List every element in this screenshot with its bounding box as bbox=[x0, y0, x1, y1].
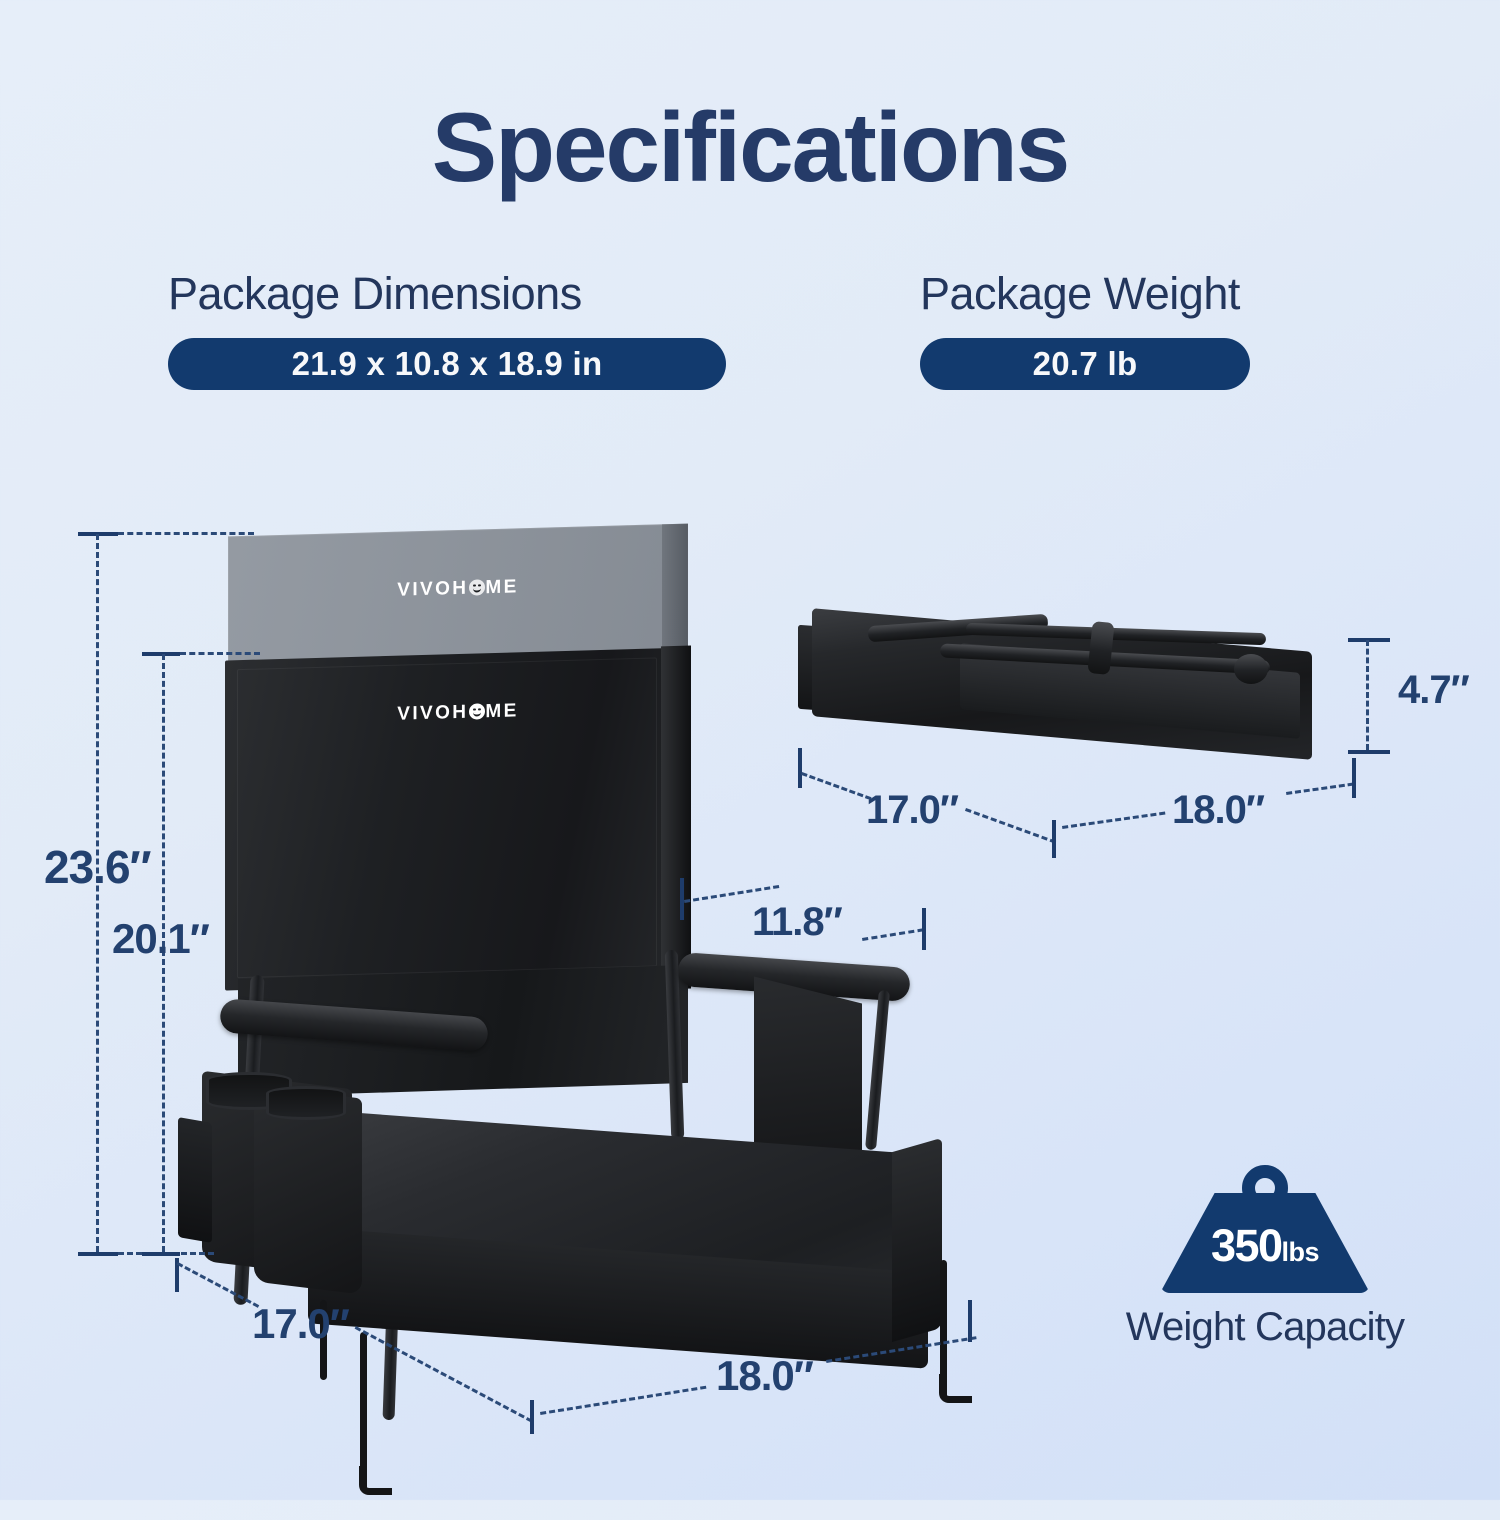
dim-cap-17-bottom bbox=[530, 1400, 534, 1434]
weight-icon: 350lbs bbox=[1160, 1165, 1370, 1293]
armrest-support-strut-right bbox=[865, 990, 890, 1150]
spec-package-weight: Package Weight 20.7 lb bbox=[920, 268, 1310, 390]
dim-cap-20-bottom bbox=[142, 1252, 180, 1256]
backrest-extended-ghost: VIVOHME bbox=[228, 524, 688, 669]
dim-cap-folded-17-left bbox=[798, 748, 802, 788]
dim-folded-height-label: 4.7″ bbox=[1398, 668, 1469, 713]
leg-hook-front-left bbox=[360, 1332, 367, 1492]
dim-folded-width-label: 18.0″ bbox=[1172, 788, 1264, 833]
dim-line-folded-18-a bbox=[1062, 812, 1165, 829]
brand-logo: VIVOHME bbox=[225, 695, 691, 730]
dim-line-folded-height bbox=[1366, 640, 1369, 750]
seat-cushion-side bbox=[892, 1138, 942, 1342]
package-dimensions-value-badge: 21.9 x 10.8 x 18.9 in bbox=[168, 338, 726, 390]
dim-cap-23-bottom bbox=[78, 1252, 118, 1256]
weight-capacity-label: Weight Capacity bbox=[1100, 1305, 1430, 1350]
dim-armrest-label: 11.8″ bbox=[752, 900, 842, 945]
dim-cap-20-top bbox=[142, 652, 180, 656]
dim-leader-23-top bbox=[118, 532, 254, 535]
backrest-panel: VIVOHME bbox=[225, 647, 691, 990]
smiley-icon bbox=[469, 703, 485, 719]
dim-height-extended-label: 23.6″ bbox=[44, 840, 151, 894]
dim-leader-20-top bbox=[180, 652, 260, 655]
dim-cap-47-bottom bbox=[1348, 750, 1390, 754]
spec-package-dimensions: Package Dimensions 21.9 x 10.8 x 18.9 in bbox=[168, 268, 728, 390]
cup-holder-right bbox=[266, 1086, 346, 1120]
package-weight-value-badge: 20.7 lb bbox=[920, 338, 1250, 390]
page-title: Specifications bbox=[0, 96, 1500, 199]
dim-cap-47-top bbox=[1348, 638, 1390, 642]
folded-chair-illustration bbox=[790, 612, 1350, 762]
package-dimensions-label: Package Dimensions bbox=[168, 268, 728, 320]
dim-cap-18-right bbox=[968, 1300, 972, 1342]
folded-hinge-knob bbox=[1234, 654, 1268, 684]
package-weight-label: Package Weight bbox=[920, 268, 1310, 320]
dim-cap-folded-18-right bbox=[1352, 758, 1356, 798]
smiley-icon bbox=[469, 579, 485, 595]
dim-folded-depth-label: 17.0″ bbox=[866, 788, 958, 833]
brand-logo-ghost: VIVOHME bbox=[228, 572, 688, 607]
dim-cap-folded-17-right bbox=[1052, 820, 1056, 858]
carry-strap bbox=[178, 1117, 212, 1243]
dim-height-folded-back-label: 20.1″ bbox=[112, 915, 209, 963]
leg-hook-front-right bbox=[940, 1260, 947, 1400]
dim-width-label: 18.0″ bbox=[716, 1352, 813, 1400]
dim-depth-label: 17.0″ bbox=[252, 1300, 349, 1348]
dim-line-folded-18-b bbox=[1286, 783, 1354, 795]
weight-capacity-badge: 350lbs Weight Capacity bbox=[1100, 1165, 1430, 1350]
weight-capacity-value: 350lbs bbox=[1160, 1223, 1370, 1268]
dim-cap-118-right bbox=[922, 908, 926, 950]
